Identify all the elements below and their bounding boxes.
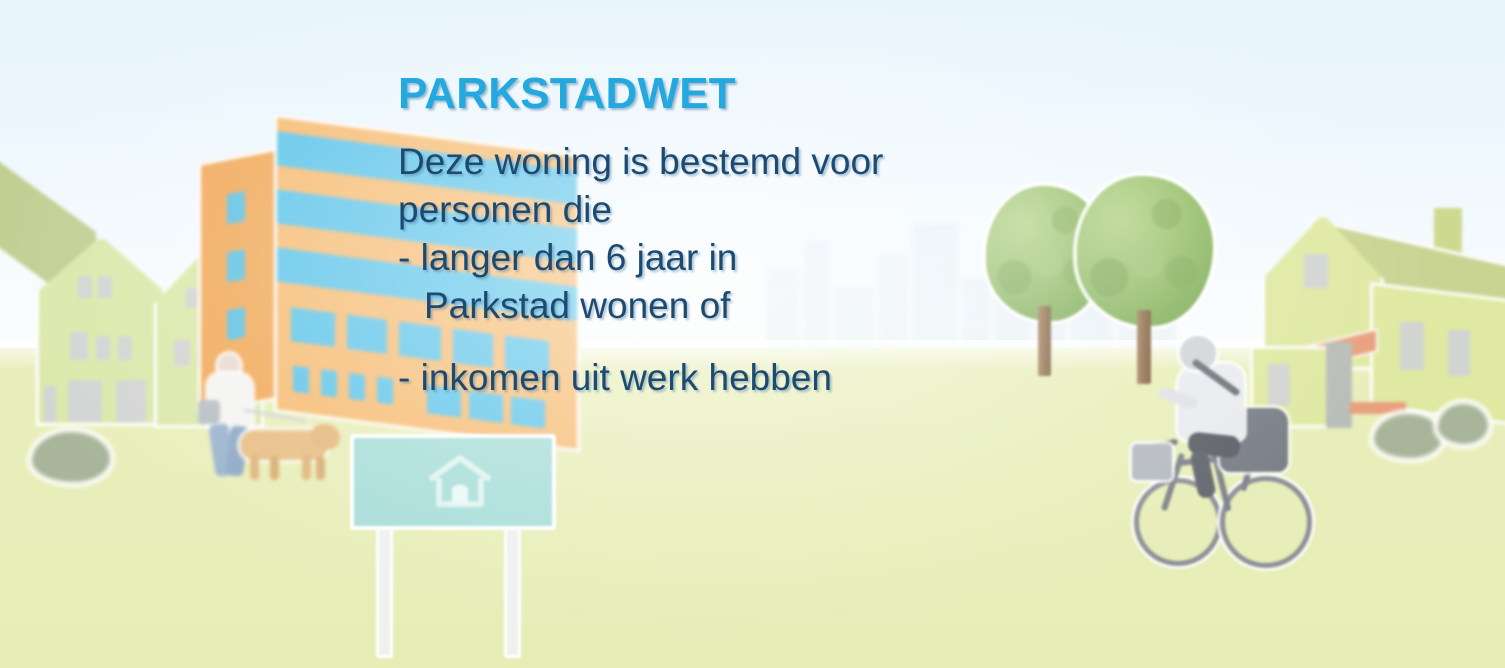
poster-line-3: Parkstad wonen of bbox=[398, 282, 1018, 330]
bush-left bbox=[32, 432, 110, 482]
poster-image: PARKSTADWET Deze woning is bestemd voor … bbox=[0, 0, 1505, 668]
sign-panel bbox=[350, 434, 556, 530]
bike-front-wheel bbox=[1220, 476, 1312, 568]
bush-right-a bbox=[1374, 414, 1442, 458]
poster-line-4: - inkomen uit werk hebben bbox=[398, 354, 1018, 402]
bush-right-b bbox=[1438, 404, 1488, 444]
sign-post-left bbox=[376, 512, 393, 658]
info-signboard bbox=[340, 434, 555, 644]
poster-text-block: PARKSTADWET Deze woning is bestemd voor … bbox=[398, 72, 1018, 402]
poster-line-0: Deze woning is bestemd voor bbox=[398, 138, 1018, 186]
house-icon bbox=[428, 452, 492, 510]
dog-walker bbox=[192, 352, 342, 484]
sign-post-right bbox=[504, 512, 521, 658]
poster-line-1: personen die bbox=[398, 186, 1018, 234]
page-title: PARKSTADWET bbox=[398, 72, 1018, 116]
cyclist bbox=[1122, 330, 1322, 595]
poster-line-2: - langer dan 6 jaar in bbox=[398, 234, 1018, 282]
